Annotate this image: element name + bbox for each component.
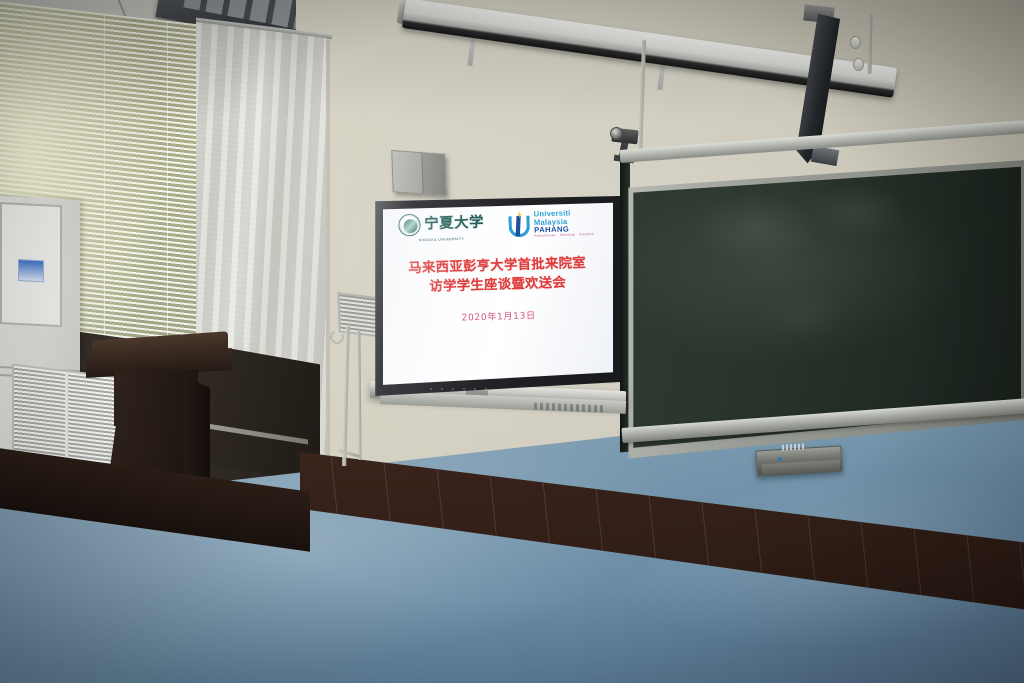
ningxia-chinese-name: 宁夏大学 xyxy=(424,216,484,232)
universiti-malaysia-pahang-logo: Universiti Malaysia PAHANG Kejuruteraan … xyxy=(507,209,594,239)
cable-clip xyxy=(853,58,864,71)
slide-content: 宁夏大学 NINGXIA UNIVERSITY Universiti Malay xyxy=(383,202,613,386)
display-button[interactable] xyxy=(485,388,487,390)
chalk-tray-indicator-led xyxy=(778,457,782,461)
display-button[interactable] xyxy=(474,388,476,390)
slide-logo-row: 宁夏大学 NINGXIA UNIVERSITY Universiti Malay xyxy=(383,208,613,244)
wall-speaker xyxy=(391,150,446,196)
display-button[interactable] xyxy=(452,388,454,390)
slide-date: 2020年1月13日 xyxy=(461,309,536,324)
ningxia-logo-row: 宁夏大学 xyxy=(398,212,485,237)
ningxia-seal-icon xyxy=(398,214,421,237)
ningxia-english-name: NINGXIA UNIVERSITY xyxy=(419,236,465,242)
display-button[interactable] xyxy=(430,388,432,390)
ump-wordmark: Universiti Malaysia PAHANG Kejuruteraan … xyxy=(534,209,595,238)
ump-tagline: Kejuruteraan · Teknologi · Kreativiti xyxy=(534,233,594,238)
interactive-flat-panel[interactable]: 宁夏大学 NINGXIA UNIVERSITY Universiti Malay xyxy=(374,196,620,396)
ningxia-university-logo: 宁夏大学 NINGXIA UNIVERSITY xyxy=(398,212,485,243)
cabinet-label-sticker xyxy=(18,259,44,282)
speaker-front-face xyxy=(392,151,424,193)
slide-title: 马来西亚彭亨大学首批来院室 访学学生座谈暨欢送会 xyxy=(408,253,587,298)
display-screen[interactable]: 宁夏大学 NINGXIA UNIVERSITY Universiti Malay xyxy=(383,202,613,386)
ump-u-stem xyxy=(516,216,521,236)
display-button[interactable] xyxy=(463,388,465,390)
classroom-photo: 宁夏大学 NINGXIA UNIVERSITY Universiti Malay xyxy=(0,0,1024,683)
slide-title-line-2: 访学学生座谈暨欢送会 xyxy=(409,273,587,298)
display-button[interactable] xyxy=(441,388,443,390)
ump-u-mark-icon xyxy=(507,212,531,238)
cable-clip xyxy=(850,36,861,49)
display-control-buttons[interactable] xyxy=(430,388,487,390)
